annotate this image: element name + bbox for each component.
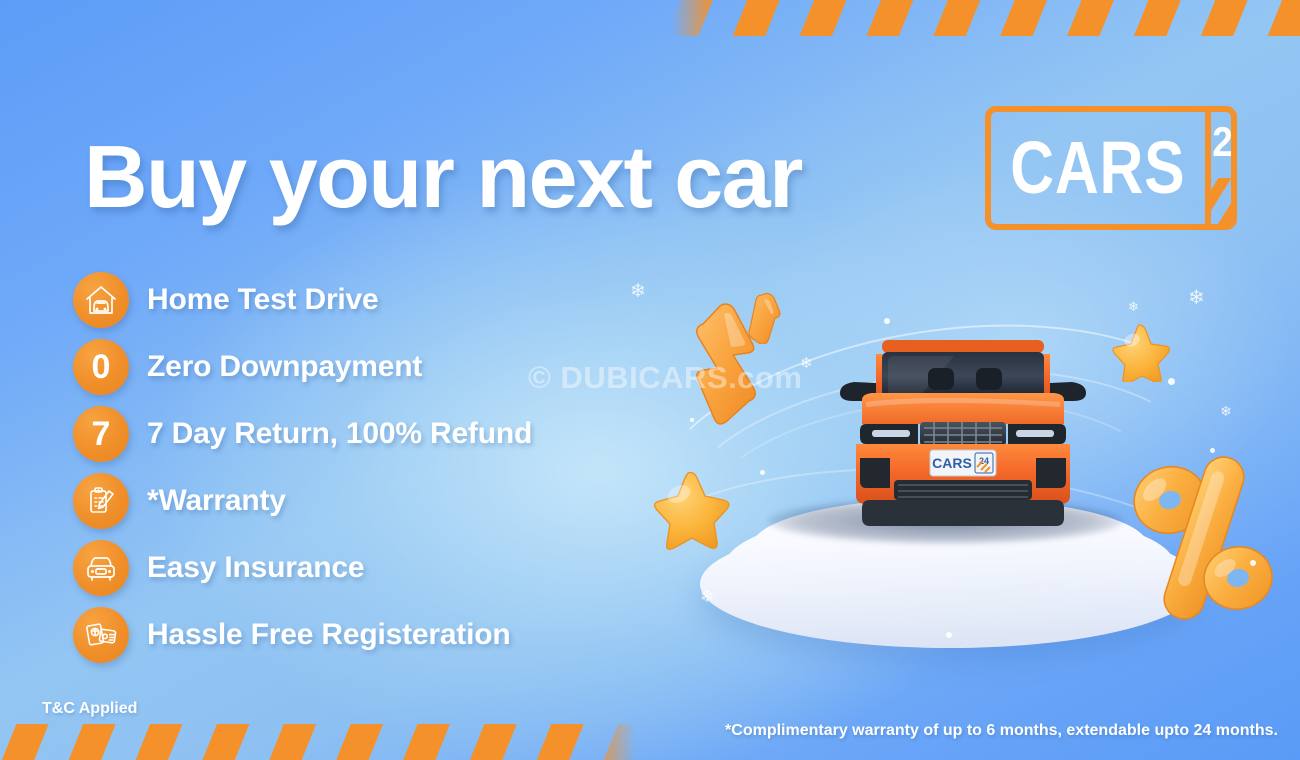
lightning-bolt-fragment-icon	[748, 292, 782, 344]
lightning-bolt-icon	[668, 300, 788, 426]
badge-digit: 0	[92, 350, 111, 384]
car-image: CARS 24	[836, 332, 1090, 532]
percent-sign-icon	[1126, 456, 1282, 620]
podium-base	[700, 520, 1200, 648]
top-stripe-band	[672, 0, 1300, 36]
list-item: Easy Insurance	[73, 540, 532, 596]
list-item: Home Test Drive	[73, 272, 532, 328]
snowflake-icon: ❄	[700, 588, 714, 605]
bottom-stripe-band	[0, 724, 636, 760]
snowflake-icon: ❄	[630, 282, 646, 301]
snowflake-icon: ❄	[1128, 300, 1139, 313]
list-item: *Warranty	[73, 473, 532, 529]
warranty-disclaimer: *Complimentary warranty of up to 6 month…	[725, 722, 1278, 740]
snowflake-icon: ❄	[1188, 288, 1205, 308]
zero-digit-icon: 0	[73, 339, 129, 395]
sparkle-dot	[1210, 448, 1215, 453]
feature-label: Easy Insurance	[147, 551, 364, 585]
home-car-icon	[73, 272, 129, 328]
badge-digit: 7	[92, 417, 111, 451]
logo-hatch-pattern	[1211, 178, 1231, 224]
list-item: 7 7 Day Return, 100% Refund	[73, 406, 532, 462]
clipboard-pen-icon	[73, 473, 129, 529]
sparkle-dot	[1250, 560, 1256, 566]
list-item: 0 Zero Downpayment	[73, 339, 532, 395]
sparkle-dot	[884, 318, 890, 324]
car-front-icon	[73, 540, 129, 596]
podium-mid	[726, 508, 1174, 620]
logo-number: 24	[1212, 121, 1230, 163]
feature-label: Home Test Drive	[147, 283, 379, 317]
feature-label: Hassle Free Registeration	[147, 618, 510, 652]
snowflake-icon: ❄	[1220, 404, 1232, 418]
sparkle-dot	[690, 418, 694, 422]
sparkle-dot	[760, 470, 765, 475]
feature-label: Zero Downpayment	[147, 350, 422, 384]
light-swoosh-icon	[620, 285, 1260, 675]
cars24-logo[interactable]: CARS 24	[985, 106, 1237, 230]
star-icon	[1108, 322, 1170, 382]
watermark: © DUBICARS.com	[528, 360, 802, 396]
stripe-pattern	[0, 724, 636, 760]
logo-number-block: 24	[1211, 112, 1231, 224]
light-swoosh-icon	[693, 384, 1177, 626]
star-icon	[648, 468, 734, 560]
podium-top	[752, 498, 1148, 594]
sparkle-dot	[1168, 378, 1175, 385]
feature-label: *Warranty	[147, 484, 286, 518]
snowflake-icon: ❄	[800, 356, 813, 371]
car-shadow	[768, 498, 1124, 544]
svg-text:24: 24	[979, 456, 989, 466]
light-swoosh-icon	[660, 344, 1223, 649]
page-title: Buy your next car	[84, 131, 802, 223]
promo-banner: CARS 24	[0, 0, 1300, 760]
stripe-pattern	[672, 0, 1300, 36]
logo-wordmark: CARS	[1010, 112, 1185, 224]
sparkle-dot	[946, 632, 952, 638]
seven-digit-icon: 7	[73, 406, 129, 462]
documents-icon	[73, 607, 129, 663]
list-item: Hassle Free Registeration	[73, 607, 532, 663]
feature-list: Home Test Drive 0 Zero Downpayment 7 7 D…	[73, 272, 532, 663]
feature-label: 7 Day Return, 100% Refund	[147, 417, 532, 451]
light-swoosh-icon	[604, 447, 1281, 752]
tc-applied-note: T&C Applied	[42, 700, 137, 718]
svg-text:CARS: CARS	[932, 455, 972, 471]
